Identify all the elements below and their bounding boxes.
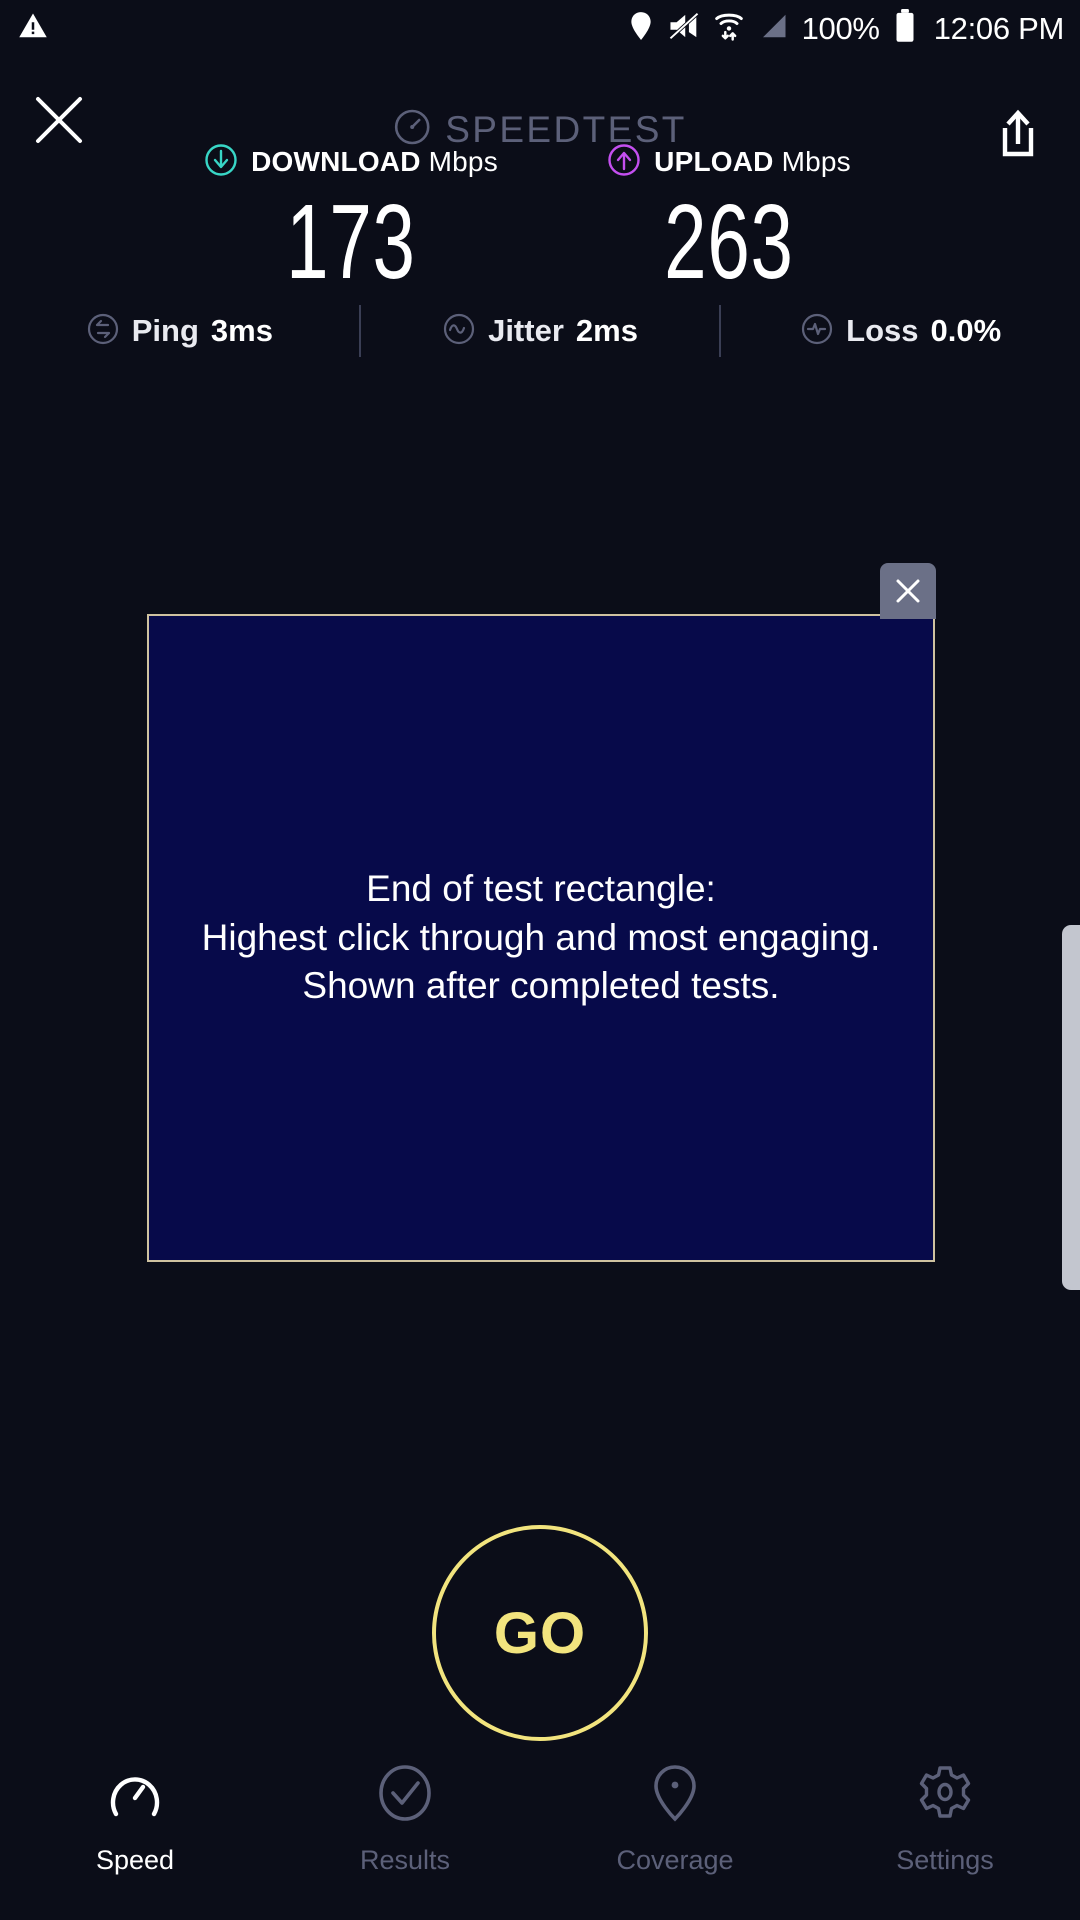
volume-muted-icon: [668, 11, 700, 46]
battery-percentage-label: 100%: [802, 13, 880, 44]
ad-text: End of test rectangle: Highest click thr…: [202, 865, 881, 1011]
status-bar-right-icons: 100% 12:06 PM: [628, 9, 1064, 48]
status-bar-left-icons: [18, 11, 48, 46]
map-pin-icon: [644, 1762, 706, 1829]
vertical-scrollbar-thumb[interactable]: [1062, 925, 1080, 1290]
test-results-panel: DOWNLOAD Mbps 173 UPLOAD Mbps 263: [0, 142, 1080, 296]
warning-triangle-icon: [18, 11, 48, 46]
location-pin-icon: [628, 11, 654, 46]
jitter-icon: [442, 312, 476, 351]
nav-label-speed: Speed: [96, 1845, 174, 1876]
download-label-row: DOWNLOAD Mbps: [204, 142, 498, 182]
bottom-navigation-bar: Speed Results Coverage: [0, 1744, 1080, 1920]
metric-ping: Ping 3ms: [0, 312, 359, 351]
jitter-value: 2ms: [576, 313, 638, 349]
loss-label: Loss: [846, 313, 918, 349]
nav-item-results[interactable]: Results: [270, 1762, 540, 1876]
ad-close-x-icon: [891, 574, 925, 608]
nav-item-settings[interactable]: Settings: [810, 1762, 1080, 1876]
close-screen-button[interactable]: [32, 93, 86, 147]
go-start-test-button[interactable]: GO: [432, 1525, 648, 1741]
ping-icon: [86, 312, 120, 351]
ping-label: Ping: [132, 313, 199, 349]
upload-speed-value: 263: [664, 188, 793, 296]
go-button-label: GO: [494, 1600, 586, 1667]
battery-full-icon: [894, 9, 916, 48]
upload-label: UPLOAD Mbps: [654, 146, 851, 178]
nav-label-results: Results: [360, 1845, 450, 1876]
wifi-transfer-icon: [714, 10, 744, 47]
download-label: DOWNLOAD Mbps: [251, 146, 498, 178]
check-circle-icon: [374, 1762, 436, 1829]
close-x-icon: [32, 93, 86, 147]
speedometer-icon: [104, 1762, 166, 1829]
status-bar-clock: 12:06 PM: [934, 13, 1064, 44]
gear-icon: [914, 1762, 976, 1829]
upload-label-row: UPLOAD Mbps: [607, 142, 851, 182]
download-speed-value: 173: [286, 188, 415, 296]
android-status-bar: 100% 12:06 PM: [0, 0, 1080, 56]
speedtest-app-screen: 100% 12:06 PM: [0, 0, 1080, 1920]
ping-value: 3ms: [211, 313, 273, 349]
arrow-up-circle-icon: [607, 143, 641, 182]
nav-label-settings: Settings: [896, 1845, 994, 1876]
connection-metrics-row: Ping 3ms Jitter 2ms Loss 0.0: [0, 305, 1080, 357]
download-result: DOWNLOAD Mbps 173: [162, 142, 540, 296]
nav-label-coverage: Coverage: [616, 1845, 733, 1876]
arrow-down-circle-icon: [204, 143, 238, 182]
upload-result: UPLOAD Mbps 263: [540, 142, 918, 296]
ad-close-button[interactable]: [880, 563, 936, 619]
app-header: SPEEDTEST: [0, 62, 1080, 142]
loss-icon: [800, 312, 834, 351]
speed-values-row: DOWNLOAD Mbps 173 UPLOAD Mbps 263: [0, 142, 1080, 296]
cellular-signal-icon: [758, 12, 788, 45]
advertisement-banner[interactable]: End of test rectangle: Highest click thr…: [147, 614, 935, 1262]
jitter-label: Jitter: [488, 313, 564, 349]
nav-item-speed[interactable]: Speed: [0, 1762, 270, 1876]
nav-item-coverage[interactable]: Coverage: [540, 1762, 810, 1876]
metric-loss: Loss 0.0%: [721, 312, 1080, 351]
metric-jitter: Jitter 2ms: [361, 312, 720, 351]
loss-value: 0.0%: [931, 313, 1002, 349]
